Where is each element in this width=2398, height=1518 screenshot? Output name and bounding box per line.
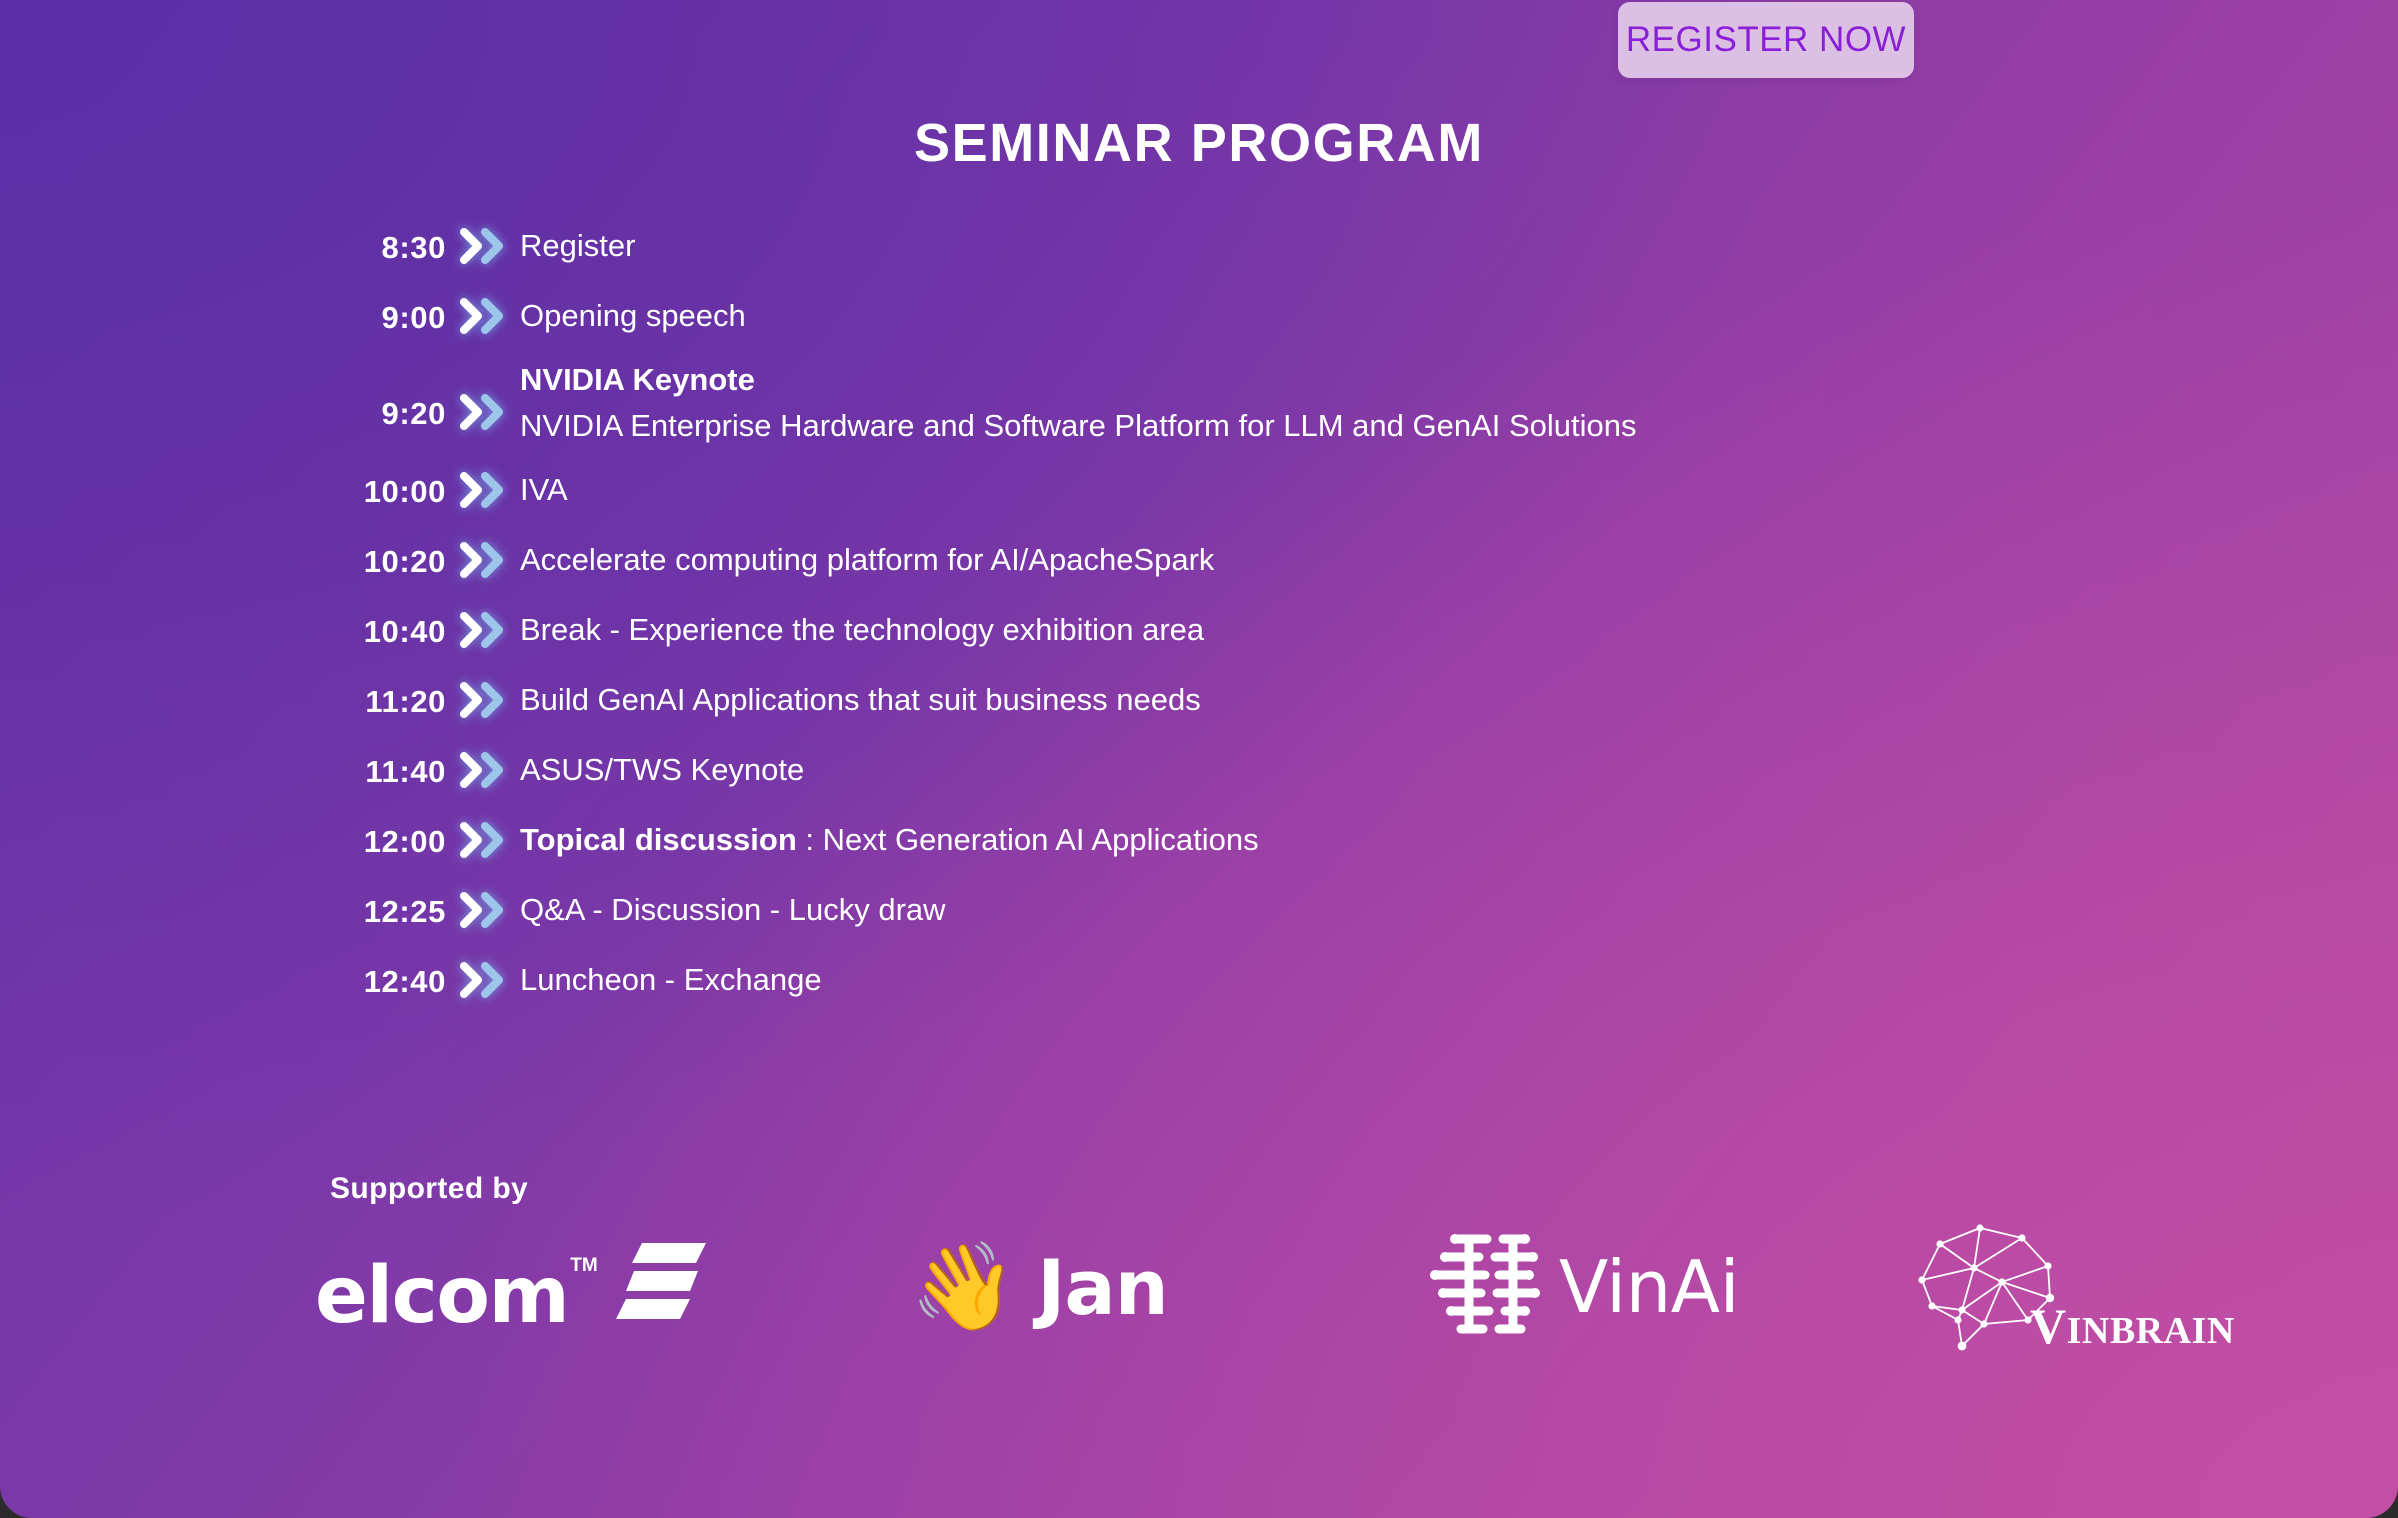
elcom-e-mark-icon bbox=[612, 1241, 708, 1328]
schedule-time: 10:40 bbox=[320, 602, 446, 650]
schedule-time: 12:40 bbox=[320, 952, 446, 1000]
page-title: SEMINAR PROGRAM bbox=[0, 112, 2398, 174]
elcom-tm-mark: TM bbox=[570, 1255, 597, 1277]
schedule-body: Build GenAI Applications that suit busin… bbox=[520, 672, 1201, 720]
schedule-title-rest: : Next Generation AI Applications bbox=[797, 822, 1259, 857]
schedule-row: 10:00IVA bbox=[320, 462, 2020, 532]
schedule-time: 9:00 bbox=[320, 288, 446, 336]
double-chevron-right-icon bbox=[446, 218, 520, 264]
double-chevron-right-icon bbox=[446, 742, 520, 788]
elcom-wordmark: elcom bbox=[315, 1259, 568, 1333]
schedule-time: 9:20 bbox=[320, 358, 446, 432]
schedule-row: 10:20Accelerate computing platform for A… bbox=[320, 532, 2020, 602]
schedule-row: 8:30Register bbox=[320, 218, 2020, 288]
schedule-list: 8:30Register9:00Opening speech9:20NVIDIA… bbox=[320, 218, 2020, 1022]
schedule-body: Register bbox=[520, 218, 635, 266]
double-chevron-right-icon bbox=[446, 288, 520, 334]
vinbrain-initial: V bbox=[2030, 1298, 2067, 1354]
schedule-title: Opening speech bbox=[520, 296, 746, 336]
vinbrain-rest: INBRAIN bbox=[2067, 1310, 2235, 1352]
sponsor-logo-elcom: elcom TM bbox=[300, 1212, 785, 1362]
schedule-row: 10:40Break - Experience the technology e… bbox=[320, 602, 2020, 672]
schedule-body: Accelerate computing platform for AI/Apa… bbox=[520, 532, 1214, 580]
double-chevron-right-icon bbox=[446, 462, 520, 508]
double-chevron-right-icon bbox=[446, 602, 520, 648]
double-chevron-right-icon bbox=[446, 358, 520, 430]
schedule-time: 11:20 bbox=[320, 672, 446, 720]
schedule-row: 9:00Opening speech bbox=[320, 288, 2020, 358]
schedule-title: Build GenAI Applications that suit busin… bbox=[520, 680, 1201, 720]
schedule-body: Luncheon - Exchange bbox=[520, 952, 822, 1000]
schedule-body: Topical discussion : Next Generation AI … bbox=[520, 812, 1259, 860]
register-now-button[interactable]: REGISTER NOW bbox=[1618, 2, 1914, 78]
schedule-subtitle: NVIDIA Enterprise Hardware and Software … bbox=[520, 406, 1637, 447]
waving-hand-emoji-icon: 👋 bbox=[910, 1244, 1017, 1330]
schedule-title: Accelerate computing platform for AI/Apa… bbox=[520, 540, 1214, 580]
double-chevron-right-icon bbox=[446, 532, 520, 578]
schedule-time: 10:20 bbox=[320, 532, 446, 580]
sponsor-logo-jan: 👋 Jan bbox=[785, 1212, 1370, 1362]
sponsor-logo-vinai: VinAi bbox=[1370, 1212, 1890, 1362]
sponsor-logo-vinbrain: VINBRAIN bbox=[1890, 1212, 2350, 1362]
schedule-row: 9:20NVIDIA KeynoteNVIDIA Enterprise Hard… bbox=[320, 358, 2020, 462]
jan-wordmark: Jan bbox=[1037, 1243, 1168, 1332]
schedule-title: NVIDIA Keynote bbox=[520, 360, 1637, 400]
schedule-row: 12:25Q&A - Discussion - Lucky draw bbox=[320, 882, 2020, 952]
sponsor-logo-strip: elcom TM 👋 Jan bbox=[300, 1212, 2160, 1362]
vinai-wordmark: VinAi bbox=[1559, 1245, 1739, 1329]
schedule-row: 12:00Topical discussion : Next Generatio… bbox=[320, 812, 2020, 882]
schedule-title: Topical discussion : Next Generation AI … bbox=[520, 820, 1259, 860]
double-chevron-right-icon bbox=[446, 812, 520, 858]
schedule-time: 11:40 bbox=[320, 742, 446, 790]
schedule-body: NVIDIA KeynoteNVIDIA Enterprise Hardware… bbox=[520, 358, 1637, 447]
schedule-title: Q&A - Discussion - Lucky draw bbox=[520, 890, 946, 930]
double-chevron-right-icon bbox=[446, 952, 520, 998]
schedule-body: Q&A - Discussion - Lucky draw bbox=[520, 882, 946, 930]
schedule-row: 11:40ASUS/TWS Keynote bbox=[320, 742, 2020, 812]
schedule-time: 12:25 bbox=[320, 882, 446, 930]
schedule-title-lead: Topical discussion bbox=[520, 822, 797, 857]
schedule-title: IVA bbox=[520, 470, 568, 510]
schedule-row: 11:20Build GenAI Applications that suit … bbox=[320, 672, 2020, 742]
schedule-title: Break - Experience the technology exhibi… bbox=[520, 610, 1204, 650]
schedule-body: Opening speech bbox=[520, 288, 746, 336]
seminar-program-slide: REGISTER NOW SEMINAR PROGRAM 8:30Registe… bbox=[0, 0, 2398, 1518]
schedule-body: Break - Experience the technology exhibi… bbox=[520, 602, 1204, 650]
schedule-time: 10:00 bbox=[320, 462, 446, 510]
schedule-title: ASUS/TWS Keynote bbox=[520, 750, 804, 790]
vinai-circuit-mark-icon bbox=[1425, 1227, 1543, 1348]
schedule-time: 8:30 bbox=[320, 218, 446, 266]
vinbrain-wordmark: VINBRAIN bbox=[2030, 1297, 2235, 1355]
supported-by-heading: Supported by bbox=[330, 1172, 528, 1206]
schedule-row: 12:40Luncheon - Exchange bbox=[320, 952, 2020, 1022]
schedule-body: ASUS/TWS Keynote bbox=[520, 742, 804, 790]
double-chevron-right-icon bbox=[446, 882, 520, 928]
schedule-time: 12:00 bbox=[320, 812, 446, 860]
schedule-title: Luncheon - Exchange bbox=[520, 960, 822, 1000]
schedule-title: Register bbox=[520, 226, 635, 266]
double-chevron-right-icon bbox=[446, 672, 520, 718]
schedule-body: IVA bbox=[520, 462, 568, 510]
